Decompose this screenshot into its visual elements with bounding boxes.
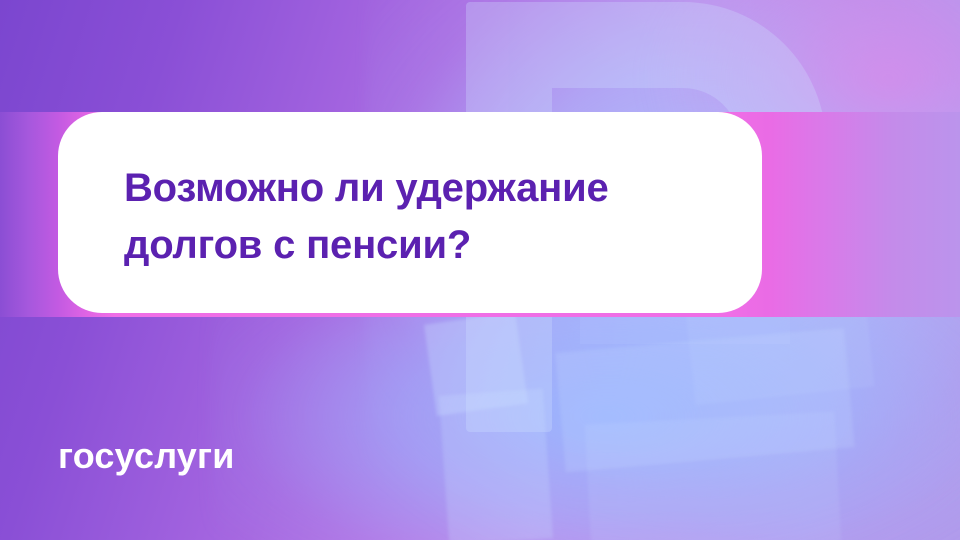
- headline-card: Возможно ли удержание долгов с пенсии?: [58, 112, 762, 313]
- decorative-rectangle: [439, 389, 553, 540]
- promo-banner: Возможно ли удержание долгов с пенсии? г…: [0, 0, 960, 540]
- decorative-rectangle: [585, 412, 841, 540]
- gosuslugi-logo[interactable]: госуслуги: [58, 438, 235, 474]
- page-title: Возможно ли удержание долгов с пенсии?: [124, 160, 724, 274]
